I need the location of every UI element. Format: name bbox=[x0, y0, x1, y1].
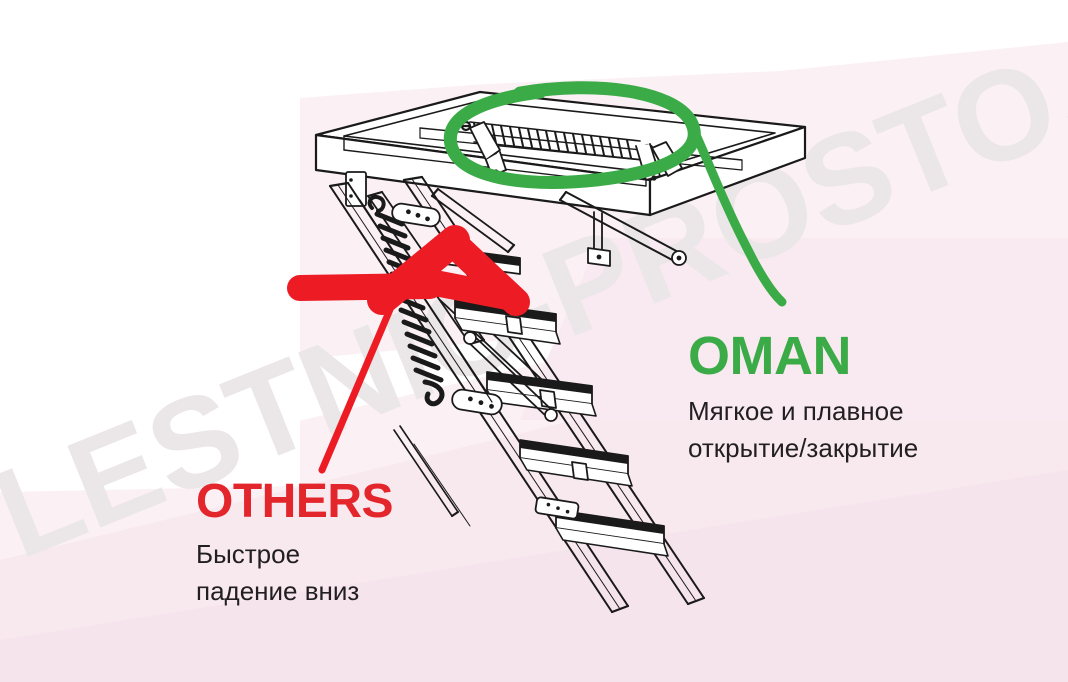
oman-subtitle: Мягкое и плавное открытие/закрытие bbox=[688, 393, 918, 467]
red-arrow-marker bbox=[300, 240, 516, 470]
oman-title: OMAN bbox=[688, 329, 918, 383]
others-subtitle-line2: падение вниз bbox=[196, 573, 393, 610]
illustration-canvas: LESTNIC-PROSTO.RU bbox=[0, 0, 1068, 682]
callout-others: OTHERS Быстрое падение вниз bbox=[196, 478, 393, 610]
others-title: OTHERS bbox=[196, 478, 393, 526]
others-subtitle: Быстрое падение вниз bbox=[196, 536, 393, 610]
oman-subtitle-line2: открытие/закрытие bbox=[688, 430, 918, 467]
callout-oman: OMAN Мягкое и плавное открытие/закрытие bbox=[688, 329, 918, 467]
others-subtitle-line1: Быстрое bbox=[196, 536, 393, 573]
oman-subtitle-line1: Мягкое и плавное bbox=[688, 393, 918, 430]
